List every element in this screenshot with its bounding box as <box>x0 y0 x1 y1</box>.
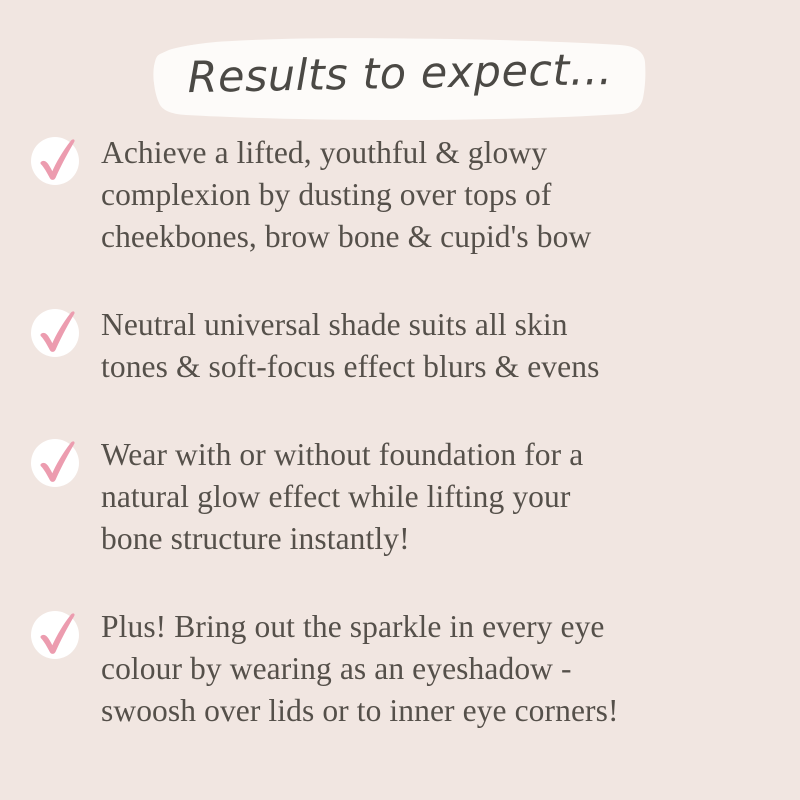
list-item-text: Plus! Bring out the sparkle in every eye… <box>101 602 766 732</box>
list-item: Wear with or without foundation for a na… <box>0 430 800 560</box>
text-line: cheekbones, brow bone & cupid's bow <box>101 216 766 258</box>
text-line: Neutral universal shade suits all skin <box>101 304 766 346</box>
list-item-text: Wear with or without foundation for a na… <box>101 430 766 560</box>
check-icon <box>26 302 88 364</box>
list-item-text: Neutral universal shade suits all skin t… <box>101 300 766 388</box>
list-item: Achieve a lifted, youthful & glowy compl… <box>0 128 800 258</box>
check-icon <box>26 130 88 192</box>
text-line: Plus! Bring out the sparkle in every eye <box>101 606 766 648</box>
check-icon <box>26 432 88 494</box>
check-icon-glyph <box>26 604 88 666</box>
list-item: Plus! Bring out the sparkle in every eye… <box>0 602 800 732</box>
list-item-text: Achieve a lifted, youthful & glowy compl… <box>101 128 766 258</box>
check-icon-glyph <box>26 130 88 192</box>
text-line: colour by wearing as an eyeshadow - <box>101 648 766 690</box>
check-icon-glyph <box>26 302 88 364</box>
text-line: Achieve a lifted, youthful & glowy <box>101 132 766 174</box>
list-item: Neutral universal shade suits all skin t… <box>0 300 800 388</box>
title-banner: Results to expect... <box>0 26 800 122</box>
text-line: Wear with or without foundation for a <box>101 434 766 476</box>
results-to-expect-poster: Results to expect... Achieve a lifted, y… <box>0 0 800 800</box>
text-line: tones & soft-focus effect blurs & evens <box>101 346 766 388</box>
check-icon <box>26 604 88 666</box>
page-title: Results to expect... <box>0 18 800 129</box>
text-line: complexion by dusting over tops of <box>101 174 766 216</box>
benefits-list: Achieve a lifted, youthful & glowy compl… <box>0 128 800 732</box>
text-line: natural glow effect while lifting your <box>101 476 766 518</box>
check-icon-glyph <box>26 432 88 494</box>
text-line: swoosh over lids or to inner eye corners… <box>101 690 766 732</box>
text-line: bone structure instantly! <box>101 518 766 560</box>
